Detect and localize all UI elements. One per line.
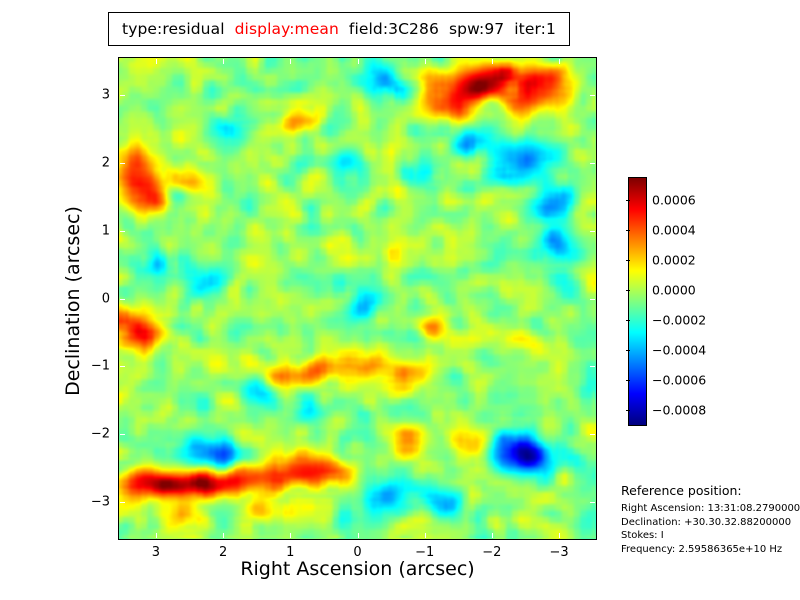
reference-position-block: Reference position: Right Ascension: 13:… [621,483,799,556]
colorbar-tick-3 [626,290,630,291]
colorbar-tick-label-6: −0.0006 [652,373,706,388]
colorbar-tick-label-1: 0.0004 [652,223,696,238]
reference-position-ra: Right Ascension: 13:31:08.27900000 [621,502,799,516]
colorbar-tick-label-5: −0.0004 [652,343,706,358]
colorbar-tick-label-7: −0.0008 [652,403,706,418]
y-tick-label-2: 1 [102,223,110,238]
colorbar-tick-6 [626,380,630,381]
colorbar-tick-label-0: 0.0006 [652,193,696,208]
colorbar-tick-0 [626,200,630,201]
colorbar-tick-label-4: −0.0002 [652,313,706,328]
title-segment-0: type:residual [117,20,230,38]
colorbar-gradient [629,178,646,425]
y-tick-label-6: −3 [91,494,110,509]
colorbar-tick-7 [626,410,630,411]
image-plot-area[interactable] [118,57,597,540]
plot-title-bar: type:residualdisplay:meanfield:3C286spw:… [108,12,570,46]
colorbar-tick-2 [626,260,630,261]
y-axis-label: Declination (arcsec) [62,61,84,541]
y-tick-label-4: −1 [91,359,110,374]
reference-position-frequency: Frequency: 2.59586365e+10 Hz [621,543,799,557]
y-tick-label-1: 2 [102,156,110,171]
title-segment-4: iter:1 [509,20,561,38]
x-tick-label-5: −2 [482,545,501,560]
x-axis-label: Right Ascension (arcsec) [118,558,597,580]
x-tick-label-6: −3 [549,545,568,560]
title-segment-2: field:3C286 [344,20,444,38]
title-segment-1: display:mean [230,20,344,38]
x-tick-label-2: 1 [286,545,294,560]
colorbar-tick-5 [626,350,630,351]
colorbar[interactable] [628,177,647,426]
reference-position-title: Reference position: [621,483,799,498]
colorbar-tick-4 [626,320,630,321]
colorbar-tick-1 [626,230,630,231]
x-tick-label-1: 2 [219,545,227,560]
reference-position-dec: Declination: +30.30.32.88200000 [621,516,799,530]
x-tick-label-0: 3 [152,545,160,560]
reference-position-stokes: Stokes: I [621,529,799,543]
title-segment-3: spw:97 [444,20,509,38]
y-tick-label-3: 0 [102,291,110,306]
residual-image-heatmap[interactable] [119,58,596,539]
colorbar-tick-label-2: 0.0002 [652,253,696,268]
y-tick-label-5: −2 [91,426,110,441]
x-tick-label-3: 0 [353,545,361,560]
x-tick-label-4: −1 [415,545,434,560]
colorbar-tick-label-3: 0.0000 [652,283,696,298]
y-tick-label-0: 3 [102,88,110,103]
